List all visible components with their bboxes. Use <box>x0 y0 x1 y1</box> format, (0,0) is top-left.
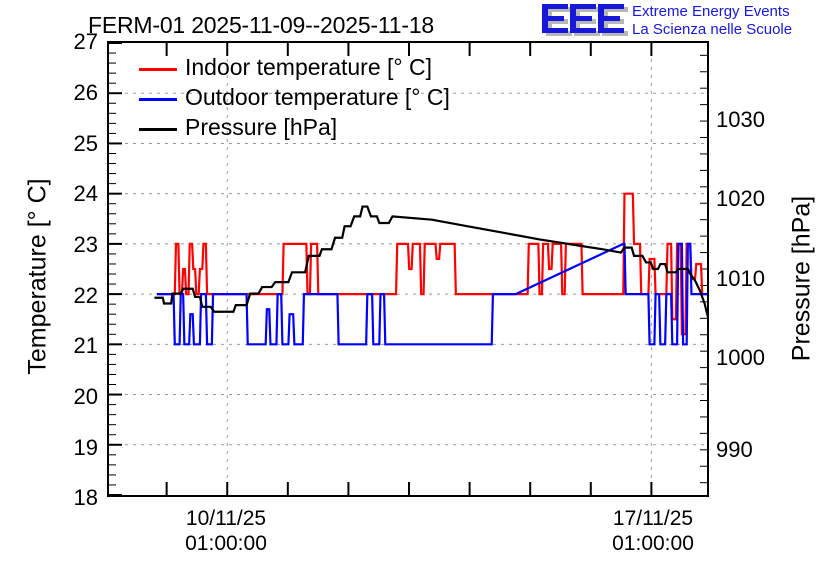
x-tick-1-date: 10/11/25 <box>146 506 306 531</box>
data-series-group <box>154 194 707 345</box>
chart-page: FERM-01 2025-11-09--2025-11-18 <box>0 0 836 572</box>
page-title: FERM-01 2025-11-09--2025-11-18 <box>88 12 434 39</box>
x-tick-1-time: 01:00:00 <box>146 531 306 556</box>
legend-swatch-outdoor <box>139 98 177 101</box>
y-tick-right-1030: 1030 <box>716 107 776 133</box>
x-tick-2-date: 17/11/25 <box>573 506 733 531</box>
legend-swatch-indoor <box>139 68 177 71</box>
legend-item-pressure[interactable]: Pressure [hPa] <box>133 114 493 144</box>
logo-line-2: La Scienza nelle Scuole <box>632 21 792 38</box>
eee-logo: Extreme Energy Events La Scienza nelle S… <box>540 2 836 42</box>
logo-line-1: Extreme Energy Events <box>632 3 790 20</box>
y-axis-left-title: Temperature [° C] <box>24 67 53 487</box>
y-tick-right-1010: 1010 <box>716 266 776 292</box>
legend-swatch-pressure <box>139 128 177 131</box>
eee-logo-mark <box>540 4 628 40</box>
legend-label-pressure: Pressure [hPa] <box>185 114 337 141</box>
legend-label-indoor: Indoor temperature [° C] <box>185 54 432 81</box>
legend-label-outdoor: Outdoor temperature [° C] <box>185 84 450 111</box>
y-tick-left-19: 19 <box>52 435 98 461</box>
y-tick-left-27: 27 <box>52 29 98 55</box>
legend: Indoor temperature [° C] Outdoor tempera… <box>133 54 493 144</box>
legend-item-outdoor[interactable]: Outdoor temperature [° C] <box>133 84 493 114</box>
y-tick-left-20: 20 <box>52 384 98 410</box>
y-tick-left-25: 25 <box>52 131 98 157</box>
x-tick-2-time: 01:00:00 <box>573 531 733 556</box>
y-tick-right-1000: 1000 <box>716 345 776 371</box>
y-tick-left-22: 22 <box>52 283 98 309</box>
y-tick-right-1020: 1020 <box>716 186 776 212</box>
y-tick-left-24: 24 <box>52 181 98 207</box>
legend-item-indoor[interactable]: Indoor temperature [° C] <box>133 54 493 84</box>
x-tick-label-2: 17/11/25 01:00:00 <box>573 506 733 556</box>
y-axis-right-title: Pressure [hPa] <box>788 69 817 489</box>
y-tick-left-23: 23 <box>52 232 98 258</box>
y-tick-left-21: 21 <box>52 333 98 359</box>
y-tick-left-26: 26 <box>52 80 98 106</box>
x-tick-label-1: 10/11/25 01:00:00 <box>146 506 306 556</box>
y-tick-left-18: 18 <box>52 485 98 511</box>
y-tick-right-990: 990 <box>716 437 776 463</box>
